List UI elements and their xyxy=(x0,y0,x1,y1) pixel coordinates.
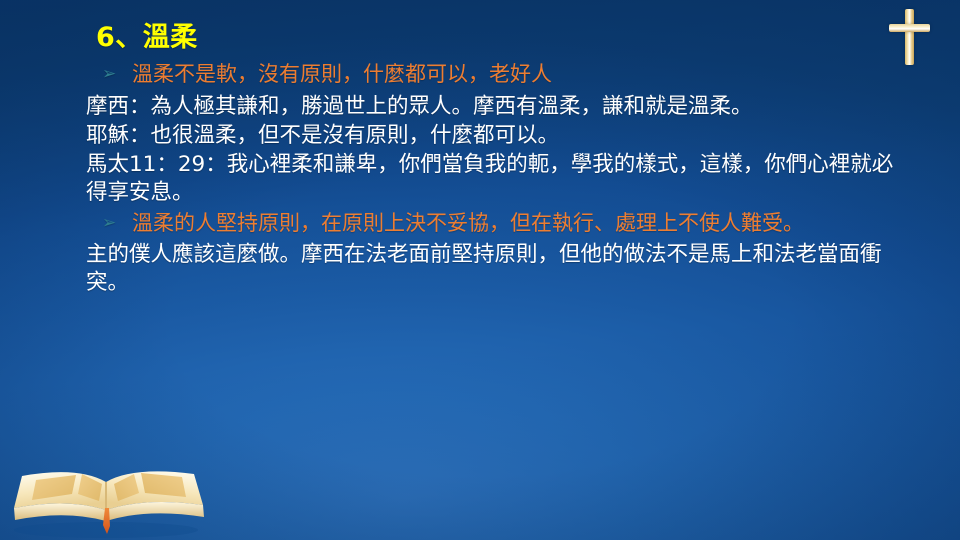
arrow-bullet-icon: ➢ xyxy=(102,62,116,88)
page-title: 6、溫柔 xyxy=(96,22,898,53)
bullet-item-1-label: 溫柔不是軟，沒有原則，什麼都可以，老好人 xyxy=(132,62,552,86)
paragraph-moses: 摩西：為人極其謙和，勝過世上的眾人。摩西有溫柔，謙和就是溫柔。 xyxy=(86,93,898,121)
open-bible-image xyxy=(6,442,210,538)
paragraph-servant-of-the-lord: 主的僕人應該這麼做。摩西在法老面前堅持原則，但他的做法不是馬上和法老當面衝突。 xyxy=(86,241,898,297)
slide-content: 6、溫柔 ➢ 溫柔不是軟，沒有原則，什麼都可以，老好人 摩西：為人極其謙和，勝過… xyxy=(86,22,898,298)
bullet-item-1: ➢ 溫柔不是軟，沒有原則，什麼都可以，老好人 xyxy=(98,61,898,89)
open-bible-graphic xyxy=(6,442,210,538)
arrow-bullet-icon: ➢ xyxy=(102,211,116,237)
slide: 6、溫柔 ➢ 溫柔不是軟，沒有原則，什麼都可以，老好人 摩西：為人極其謙和，勝過… xyxy=(0,0,960,540)
paragraph-jesus: 耶穌：也很溫柔，但不是沒有原則，什麼都可以。 xyxy=(86,122,898,150)
cross-vertical-bar xyxy=(905,9,914,65)
paragraph-matthew-11-29: 馬太11：29：我心裡柔和謙卑，你們當負我的軛，學我的樣式，這樣，你們心裡就必得… xyxy=(86,151,898,207)
bullet-item-2: ➢ 溫柔的人堅持原則，在原則上決不妥協，但在執行、處理上不使人難受。 xyxy=(98,210,898,238)
bullet-item-2-label: 溫柔的人堅持原則，在原則上決不妥協，但在執行、處理上不使人難受。 xyxy=(132,211,804,235)
